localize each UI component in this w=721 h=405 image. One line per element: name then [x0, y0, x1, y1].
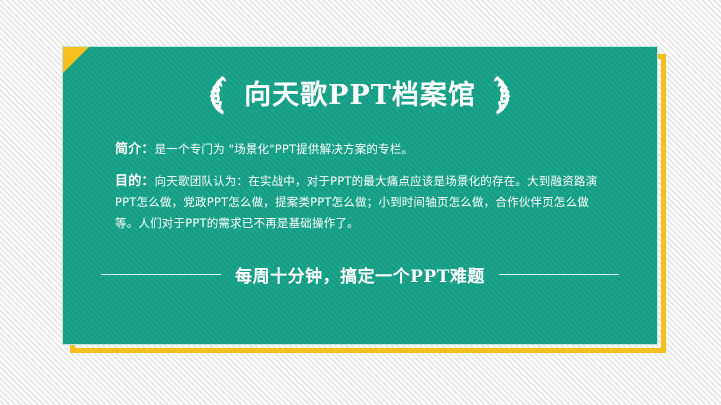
- folded-corner-decoration: [63, 47, 89, 73]
- tagline-row: 每周十分钟，搞定一个PPT难题: [63, 262, 657, 287]
- paragraph-purpose: 目的：向天歌团队认为：在实战中，对于PPT的最大痛点应该是场景化的存在。大到融资…: [115, 171, 607, 234]
- tagline-rule-right: [499, 274, 619, 275]
- laurel-left-icon: [206, 73, 232, 117]
- laurel-right-icon: [488, 73, 514, 117]
- tagline-text: 每周十分钟，搞定一个PPT难题: [235, 262, 485, 287]
- slide-title: 向天歌PPT档案馆: [244, 82, 476, 109]
- tagline-rule-left: [101, 274, 221, 275]
- paragraph-purpose-text: 向天歌团队认为：在实战中，对于PPT的最大痛点应该是场景化的存在。大到融资路演P…: [115, 174, 597, 230]
- title-row: 向天歌PPT档案馆: [63, 73, 657, 117]
- body-text-block: 简介：是一个专门为 "场景化"PPT提供解决方案的专栏。 目的：向天歌团队认为：…: [115, 139, 607, 234]
- paragraph-intro-text: 是一个专门为 "场景化"PPT提供解决方案的专栏。: [155, 142, 414, 156]
- paragraph-purpose-lead: 目的：: [115, 174, 155, 189]
- green-content-card: 向天歌PPT档案馆: [62, 46, 658, 345]
- paragraph-intro: 简介：是一个专门为 "场景化"PPT提供解决方案的专栏。: [115, 139, 607, 160]
- slide-canvas: 向天歌PPT档案馆: [0, 0, 721, 405]
- paragraph-intro-lead: 简介：: [115, 142, 155, 157]
